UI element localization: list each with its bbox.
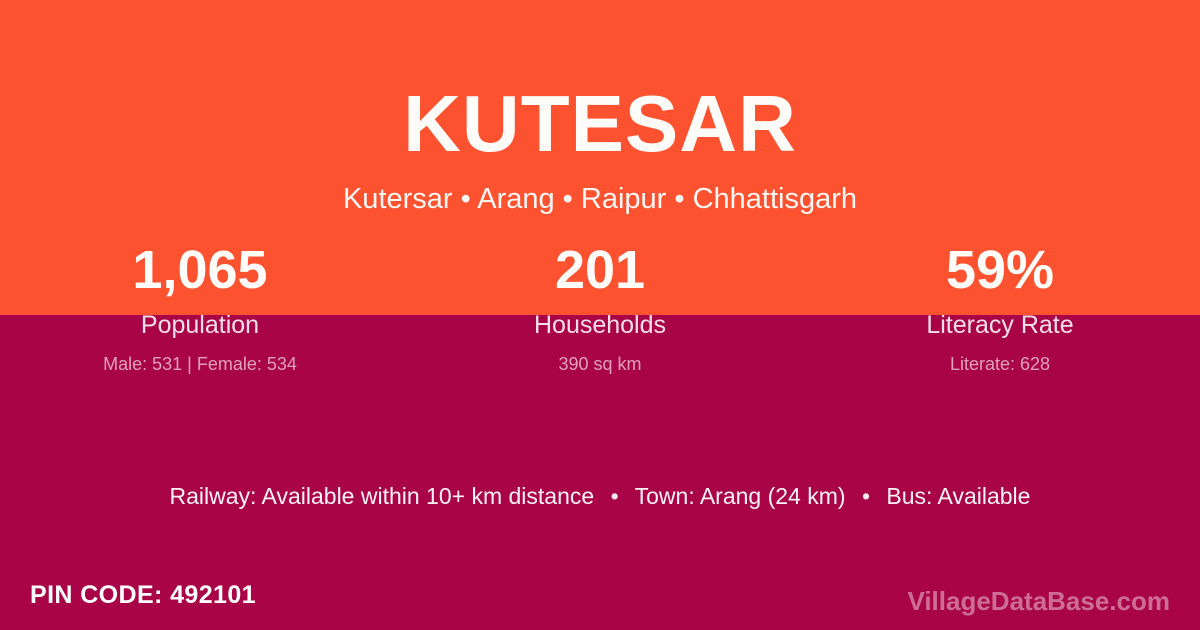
- stat-literacy-rate: 59% Literacy Rate Literate: 628: [800, 243, 1200, 373]
- site-watermark: VillageDataBase.com: [907, 588, 1170, 614]
- card-footer: PIN CODE: 492101 VillageDataBase.com: [0, 550, 1200, 630]
- village-info-card: KUTESAR Kutersar • Arang • Raipur • Chha…: [0, 0, 1200, 630]
- page-title: KUTESAR: [0, 84, 1200, 164]
- transport-info-line: Railway: Available within 10+ km distanc…: [0, 485, 1200, 508]
- railway-info: Railway: Available within 10+ km distanc…: [170, 483, 595, 509]
- stat-label: Households: [400, 313, 800, 338]
- bullet-separator-icon: •: [852, 485, 880, 508]
- card-header: KUTESAR Kutersar • Arang • Raipur • Chha…: [0, 0, 1200, 216]
- pin-code-label: PIN CODE: 492101: [30, 583, 256, 608]
- bus-info: Bus: Available: [886, 483, 1030, 509]
- town-info: Town: Arang (24 km): [635, 483, 846, 509]
- stat-label: Literacy Rate: [800, 313, 1200, 338]
- stat-households: 201 Households 390 sq km: [400, 243, 800, 373]
- stat-value: 59%: [800, 243, 1200, 297]
- breadcrumb: Kutersar • Arang • Raipur • Chhattisgarh: [0, 184, 1200, 216]
- stat-value: 1,065: [0, 243, 400, 297]
- stat-label: Population: [0, 313, 400, 338]
- stat-population: 1,065 Population Male: 531 | Female: 534: [0, 243, 400, 373]
- stats-row: 1,065 Population Male: 531 | Female: 534…: [0, 243, 1200, 373]
- stat-value: 201: [400, 243, 800, 297]
- stat-sublabel: 390 sq km: [400, 355, 800, 373]
- stat-sublabel: Literate: 628: [800, 355, 1200, 373]
- stat-sublabel: Male: 531 | Female: 534: [0, 355, 400, 373]
- bullet-separator-icon: •: [601, 485, 629, 508]
